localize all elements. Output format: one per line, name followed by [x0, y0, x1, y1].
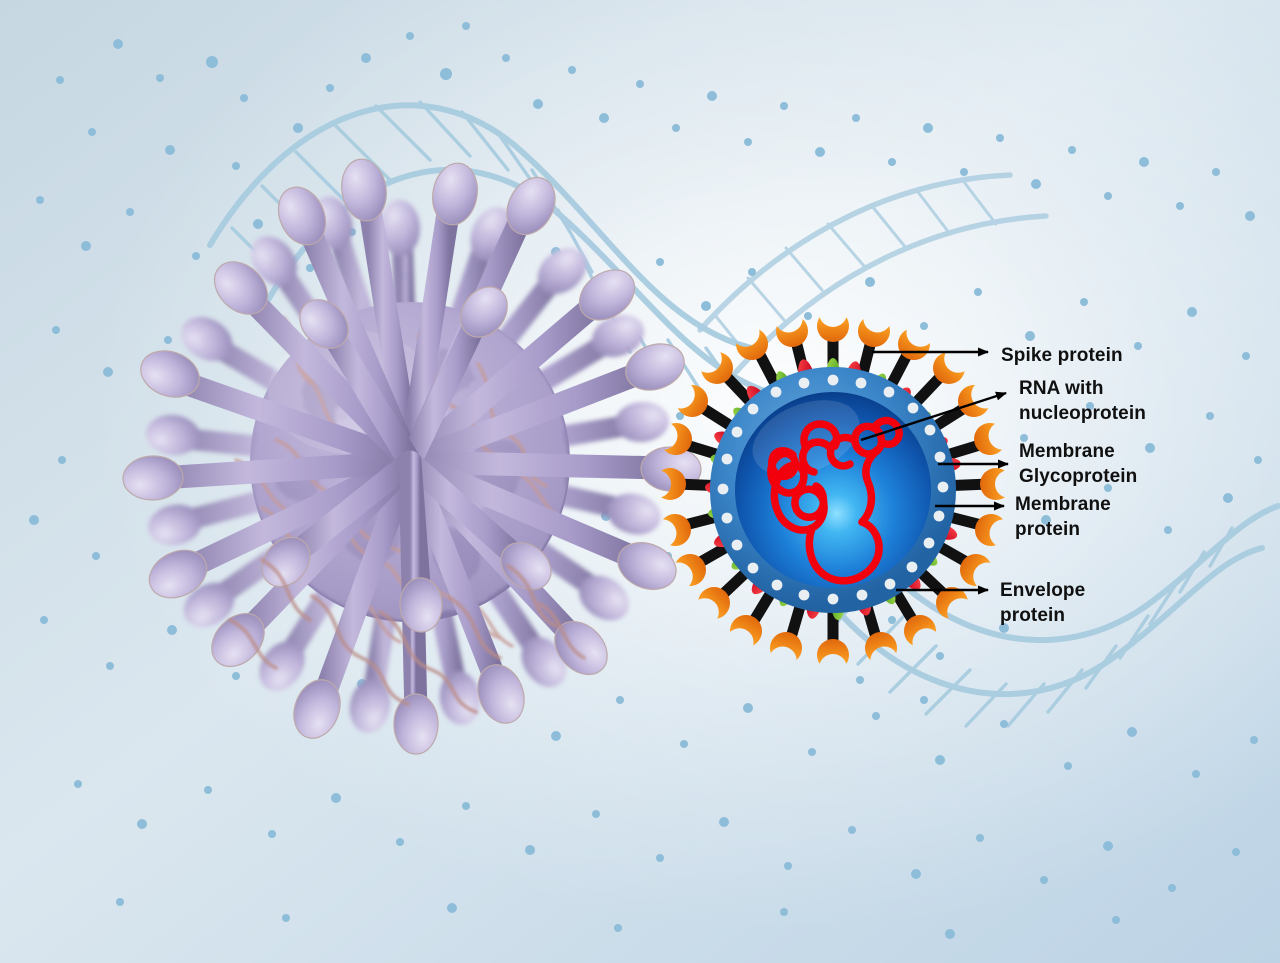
label-line: protein: [1000, 605, 1065, 626]
label-membrane-glycoprotein: MembraneGlycoprotein: [1019, 439, 1169, 489]
label-line: RNA with: [1019, 378, 1104, 399]
label-line: Membrane: [1019, 441, 1115, 462]
label-line: protein: [1015, 519, 1080, 540]
arrow-rna-with-nucleoprotein: [861, 393, 1006, 440]
label-line: Envelope: [1000, 580, 1085, 601]
label-line: Glycoprotein: [1019, 466, 1137, 487]
label-membrane-protein: Membraneprotein: [1015, 492, 1155, 542]
label-line: nucleoprotein: [1019, 403, 1146, 424]
figure-canvas: Spike protein RNA withnucleoprotein Memb…: [0, 0, 1280, 963]
label-rna-with-nucleoprotein: RNA withnucleoprotein: [1019, 376, 1159, 426]
label-envelope-protein: Envelopeprotein: [1000, 578, 1130, 628]
label-line: Membrane: [1015, 494, 1111, 515]
label-spike-protein: Spike protein: [1001, 343, 1123, 368]
